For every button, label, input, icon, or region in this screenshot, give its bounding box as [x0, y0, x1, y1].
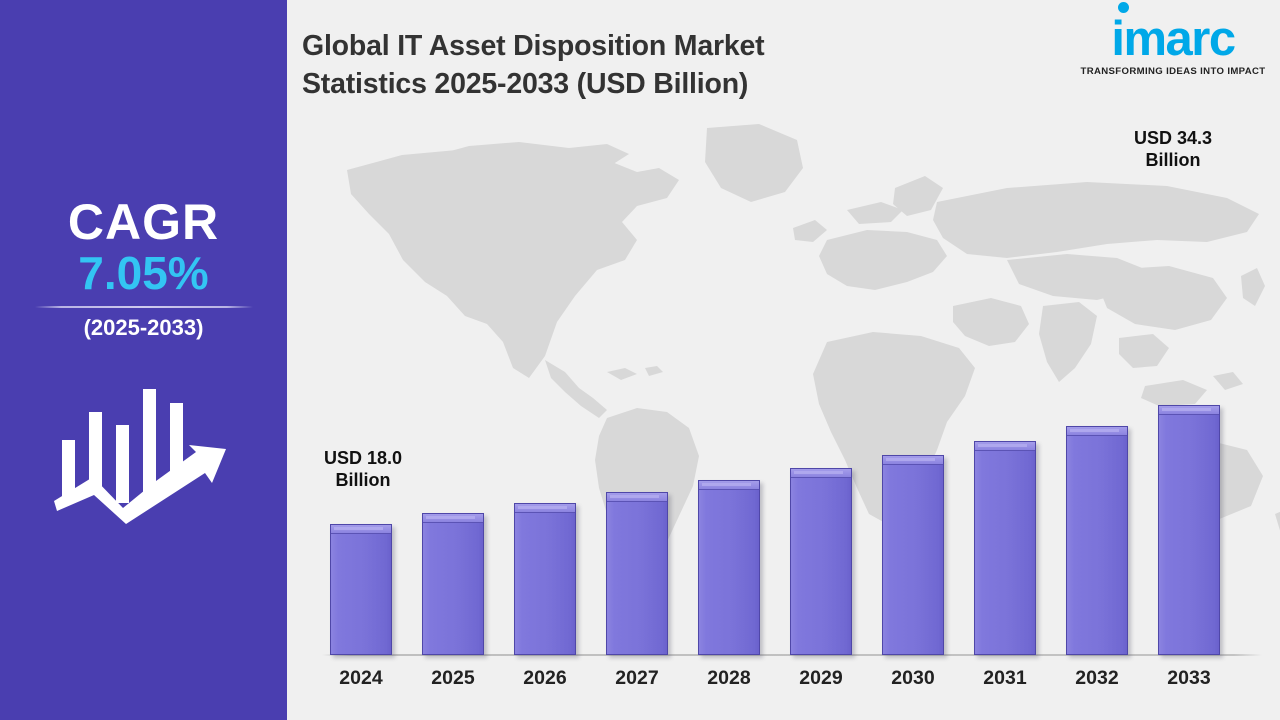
bar-body-2031 [974, 441, 1036, 655]
x-tick-2029: 2029 [790, 667, 852, 690]
x-tick-2024: 2024 [330, 667, 392, 690]
x-tick-2025: 2025 [422, 667, 484, 690]
data-label-2033: USD 34.3 Billion [1113, 128, 1233, 172]
bar-2027[interactable] [606, 492, 668, 655]
bar-top-highlight-2033 [1159, 406, 1219, 415]
x-tick-2026: 2026 [514, 667, 576, 690]
bar-top-highlight-2026 [515, 504, 575, 513]
bar-body-2028 [698, 480, 760, 655]
cagr-title: CAGR [68, 196, 219, 248]
bar-body-2030 [882, 455, 944, 655]
bar-2029[interactable] [790, 468, 852, 655]
cagr-value: 7.05% [78, 248, 208, 300]
bar-body-2029 [790, 468, 852, 655]
bar-top-highlight-2029 [791, 469, 851, 478]
bar-top-highlight-2031 [975, 442, 1035, 451]
x-tick-2027: 2027 [606, 667, 668, 690]
data-label-2033-line-1: USD 34.3 [1113, 128, 1233, 150]
x-tick-2031: 2031 [974, 667, 1036, 690]
bar-body-2026 [514, 503, 576, 655]
data-label-2033-line-2: Billion [1113, 150, 1233, 172]
bar-2028[interactable] [698, 480, 760, 655]
data-label-2024-line-1: USD 18.0 [303, 448, 423, 470]
bar-top-highlight-2027 [607, 493, 667, 502]
bar-2032[interactable] [1066, 426, 1128, 655]
bar-top-highlight-2025 [423, 514, 483, 523]
bar-body-2025 [422, 513, 484, 655]
cagr-period: (2025-2033) [84, 315, 204, 341]
cagr-sidebar: CAGR 7.05% (2025-2033) [0, 0, 287, 720]
bar-2033[interactable] [1158, 405, 1220, 655]
data-label-2024: USD 18.0 Billion [303, 448, 423, 492]
bar-top-highlight-2028 [699, 481, 759, 490]
x-tick-2033: 2033 [1158, 667, 1220, 690]
x-tick-2032: 2032 [1066, 667, 1128, 690]
x-tick-2030: 2030 [882, 667, 944, 690]
bar-2025[interactable] [422, 513, 484, 655]
bar-chart-growth-arrow-icon [44, 377, 244, 527]
x-tick-2028: 2028 [698, 667, 760, 690]
cagr-block: CAGR 7.05% (2025-2033) [0, 196, 287, 341]
bar-body-2032 [1066, 426, 1128, 655]
bar-2030[interactable] [882, 455, 944, 655]
data-label-2024-line-2: Billion [303, 470, 423, 492]
chart-panel: Global IT Asset Disposition Market Stati… [287, 0, 1280, 720]
bar-2026[interactable] [514, 503, 576, 655]
bar-body-2033 [1158, 405, 1220, 655]
bar-body-2024 [330, 524, 392, 655]
bar-2024[interactable] [330, 524, 392, 655]
bar-top-highlight-2030 [883, 456, 943, 465]
bar-body-2027 [606, 492, 668, 655]
bar-2031[interactable] [974, 441, 1036, 655]
bar-chart: USD 18.0 Billion USD 34.3 Billion 202420… [287, 0, 1280, 720]
cagr-divider [35, 306, 253, 308]
bar-top-highlight-2032 [1067, 427, 1127, 436]
bar-top-highlight-2024 [331, 525, 391, 534]
